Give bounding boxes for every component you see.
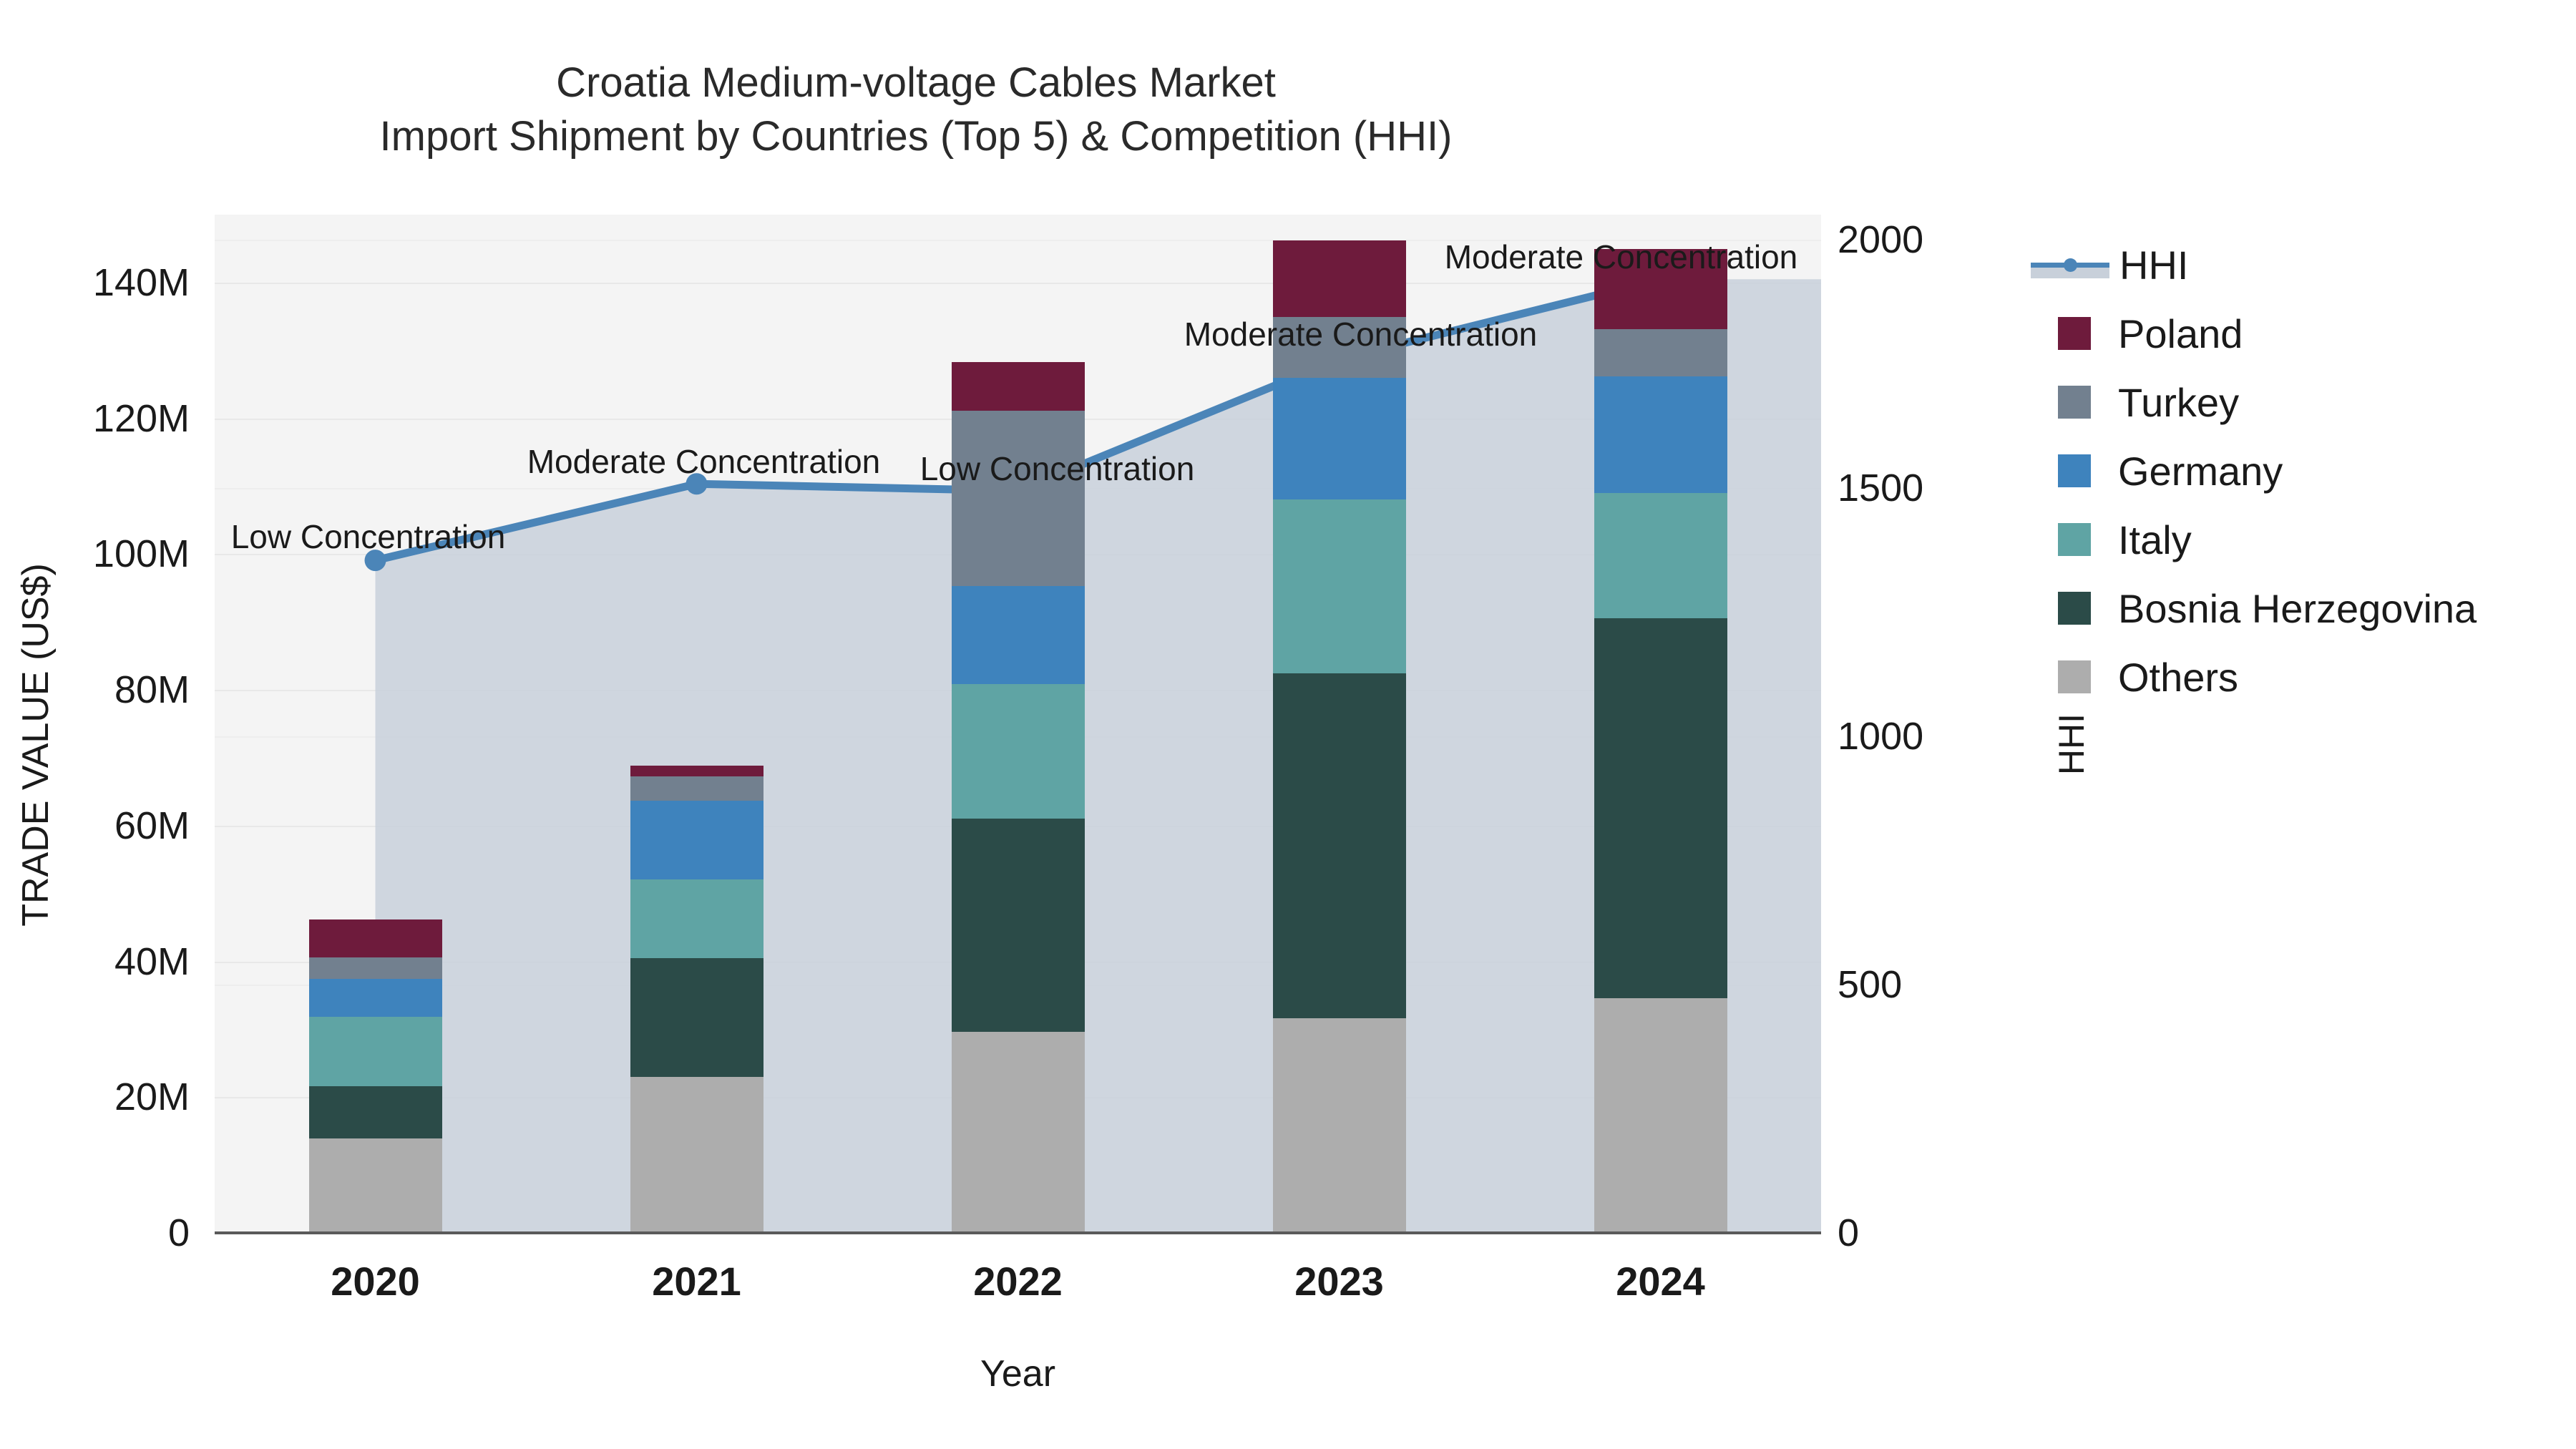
legend-item-label: Germany [2118, 448, 2283, 494]
x-tick-label-2021: 2021 [590, 1258, 804, 1304]
annotation-2020: Low Concentration [231, 517, 506, 556]
y2-tick-label: 2000 [1838, 218, 2024, 262]
legend-item-label: HHI [2119, 242, 2188, 288]
y-axis-left-label: TRADE VALUE (US$) [14, 473, 57, 1017]
legend-item-label: Turkey [2118, 379, 2239, 426]
legend-item-bosnia-herzegovina[interactable]: Bosnia Herzegovina [2054, 574, 2569, 643]
y2-tick-label: 500 [1838, 962, 2024, 1007]
bar-group-2022[interactable] [952, 215, 1085, 1233]
chart-title: Croatia Medium-voltage Cables Market Imp… [0, 56, 1832, 164]
y-tick-label: 0 [0, 1211, 190, 1255]
bar-group-2024[interactable] [1594, 215, 1727, 1233]
chart-figure: Croatia Medium-voltage Cables Market Imp… [0, 0, 2576, 1449]
bar-segment-turkey[interactable] [1594, 329, 1727, 376]
y-tick-label: 120M [0, 396, 190, 441]
legend-item-others[interactable]: Others [2054, 643, 2569, 711]
bar-segment-turkey[interactable] [309, 957, 442, 979]
bar-group-2023[interactable] [1273, 215, 1406, 1233]
bar-segment-others[interactable] [309, 1138, 442, 1233]
bar-segment-others[interactable] [952, 1032, 1085, 1233]
annotation-2024: Moderate Concentration [1445, 238, 1798, 276]
y2-tick-label: 1500 [1838, 466, 2024, 510]
x-axis-line [215, 1231, 1821, 1234]
legend-item-label: Italy [2118, 517, 2192, 563]
bar-segment-poland[interactable] [952, 362, 1085, 411]
bar-segment-italy[interactable] [952, 684, 1085, 819]
bar-segment-bosnia-herzegovina[interactable] [1273, 673, 1406, 1018]
bar-segment-italy[interactable] [309, 1017, 442, 1086]
chart-legend: HHIPolandTurkeyGermanyItalyBosnia Herzeg… [2054, 230, 2569, 711]
legend-swatch-icon [2058, 523, 2091, 556]
bar-segment-germany[interactable] [630, 801, 763, 879]
y-tick-label: 20M [0, 1075, 190, 1119]
legend-item-poland[interactable]: Poland [2054, 299, 2569, 368]
chart-title-line-1: Croatia Medium-voltage Cables Market [0, 56, 1832, 109]
bar-segment-poland[interactable] [309, 919, 442, 957]
x-tick-label-2024: 2024 [1553, 1258, 1768, 1304]
bar-segment-germany[interactable] [1594, 376, 1727, 493]
bar-segment-bosnia-herzegovina[interactable] [1594, 618, 1727, 998]
legend-swatch-icon [2058, 592, 2091, 625]
plot-area [215, 215, 1821, 1233]
legend-swatch-icon [2058, 454, 2091, 487]
bar-segment-poland[interactable] [1273, 240, 1406, 317]
annotation-2021: Moderate Concentration [527, 442, 881, 481]
legend-swatch-icon [2058, 317, 2091, 350]
bar-segment-italy[interactable] [1273, 499, 1406, 674]
bar-segment-bosnia-herzegovina[interactable] [630, 958, 763, 1077]
bar-segment-italy[interactable] [630, 879, 763, 958]
y2-tick-label: 0 [1838, 1211, 2024, 1255]
x-tick-label-2022: 2022 [911, 1258, 1126, 1304]
bar-segment-germany[interactable] [309, 979, 442, 1017]
bar-segment-others[interactable] [1594, 998, 1727, 1233]
annotation-2022: Low Concentration [920, 449, 1195, 488]
x-tick-label-2020: 2020 [268, 1258, 483, 1304]
bar-segment-others[interactable] [630, 1077, 763, 1233]
bar-segment-bosnia-herzegovina[interactable] [309, 1086, 442, 1138]
y2-tick-label: 1000 [1838, 714, 2024, 758]
bar-segment-poland[interactable] [630, 766, 763, 776]
bar-group-2021[interactable] [630, 215, 763, 1233]
annotation-2023: Moderate Concentration [1184, 315, 1538, 353]
legend-item-label: Bosnia Herzegovina [2118, 585, 2477, 632]
bar-segment-italy[interactable] [1594, 493, 1727, 618]
x-axis-label: Year [215, 1352, 1821, 1395]
bar-segment-turkey[interactable] [630, 776, 763, 801]
bar-group-2020[interactable] [309, 215, 442, 1233]
y-tick-label: 140M [0, 260, 190, 305]
legend-line-marker-icon [2031, 248, 2109, 281]
bar-segment-germany[interactable] [1273, 378, 1406, 499]
legend-item-label: Others [2118, 654, 2238, 701]
legend-item-hhi[interactable]: HHI [2054, 230, 2569, 299]
legend-item-turkey[interactable]: Turkey [2054, 368, 2569, 436]
x-tick-label-2023: 2023 [1232, 1258, 1447, 1304]
legend-item-label: Poland [2118, 311, 2243, 357]
legend-item-italy[interactable]: Italy [2054, 505, 2569, 574]
chart-title-line-2: Import Shipment by Countries (Top 5) & C… [0, 109, 1832, 163]
legend-item-germany[interactable]: Germany [2054, 436, 2569, 505]
legend-swatch-icon [2058, 386, 2091, 419]
legend-swatch-icon [2058, 660, 2091, 693]
bar-segment-bosnia-herzegovina[interactable] [952, 819, 1085, 1032]
bar-segment-turkey[interactable] [952, 411, 1085, 586]
bar-segment-others[interactable] [1273, 1018, 1406, 1233]
bar-segment-germany[interactable] [952, 586, 1085, 684]
